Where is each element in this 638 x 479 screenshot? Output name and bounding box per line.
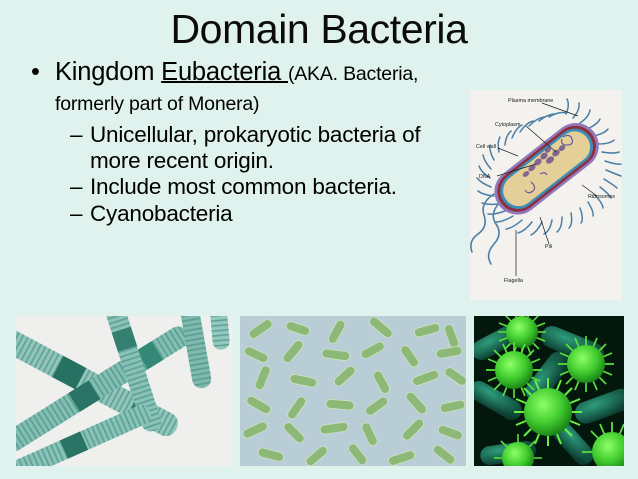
- bullet-marker-dash: –: [70, 122, 82, 148]
- sub-bullet-list: –Unicellular, prokaryotic bacteria of mo…: [28, 122, 458, 226]
- slide-body: •Kingdom Eubacteria (AKA. Bacteria, form…: [28, 58, 458, 227]
- page-title: Domain Bacteria: [0, 6, 638, 52]
- label-cytoplasm: Cytoplasm: [495, 122, 521, 128]
- sub-bullet-label: Unicellular, prokaryotic bacteria of mor…: [90, 122, 420, 173]
- bullet-marker-dot: •: [31, 58, 40, 86]
- rod-shaped-bacteria-image: [240, 316, 466, 466]
- filamentous-cyanobacteria-image: [16, 316, 232, 466]
- label-ribosomes: Ribosomes: [588, 194, 615, 200]
- prokaryotic-cell-diagram-image: Plasma membrane Cytoplasm Cell wall DNA …: [470, 90, 622, 300]
- bullet-level2-common: –Include most common bacteria.: [70, 174, 458, 200]
- filamentous-svg: [16, 316, 232, 466]
- label-dna: DNA: [479, 174, 491, 180]
- label-cell-wall: Cell wall: [476, 144, 496, 150]
- slide: Domain Bacteria •Kingdom Eubacteria (AKA…: [0, 0, 638, 479]
- label-flagella: Flagella: [504, 278, 523, 284]
- bullet-level1: •Kingdom Eubacteria (AKA. Bacteria, form…: [28, 58, 458, 118]
- label-pili: Pili: [545, 244, 552, 250]
- bacilli-svg: [240, 316, 466, 466]
- spiky-microbes-image: [474, 316, 624, 466]
- label-plasma-membrane: Plasma membrane: [508, 98, 553, 104]
- bullet-marker-dash: –: [70, 201, 82, 227]
- bullet-text-underlined: Eubacteria: [161, 58, 288, 86]
- microbes-svg: [474, 316, 624, 466]
- bullet-level2-cyanobacteria: –Cyanobacteria: [70, 201, 458, 227]
- bullet-text-before: Kingdom: [55, 58, 161, 86]
- bullet-marker-dash: –: [70, 174, 82, 200]
- bullet-level2-unicellular: –Unicellular, prokaryotic bacteria of mo…: [70, 122, 458, 173]
- sub-bullet-label: Cyanobacteria: [90, 201, 233, 226]
- sub-bullet-label: Include most common bacteria.: [90, 174, 397, 199]
- cell-diagram-svg: Plasma membrane Cytoplasm Cell wall DNA …: [470, 90, 622, 300]
